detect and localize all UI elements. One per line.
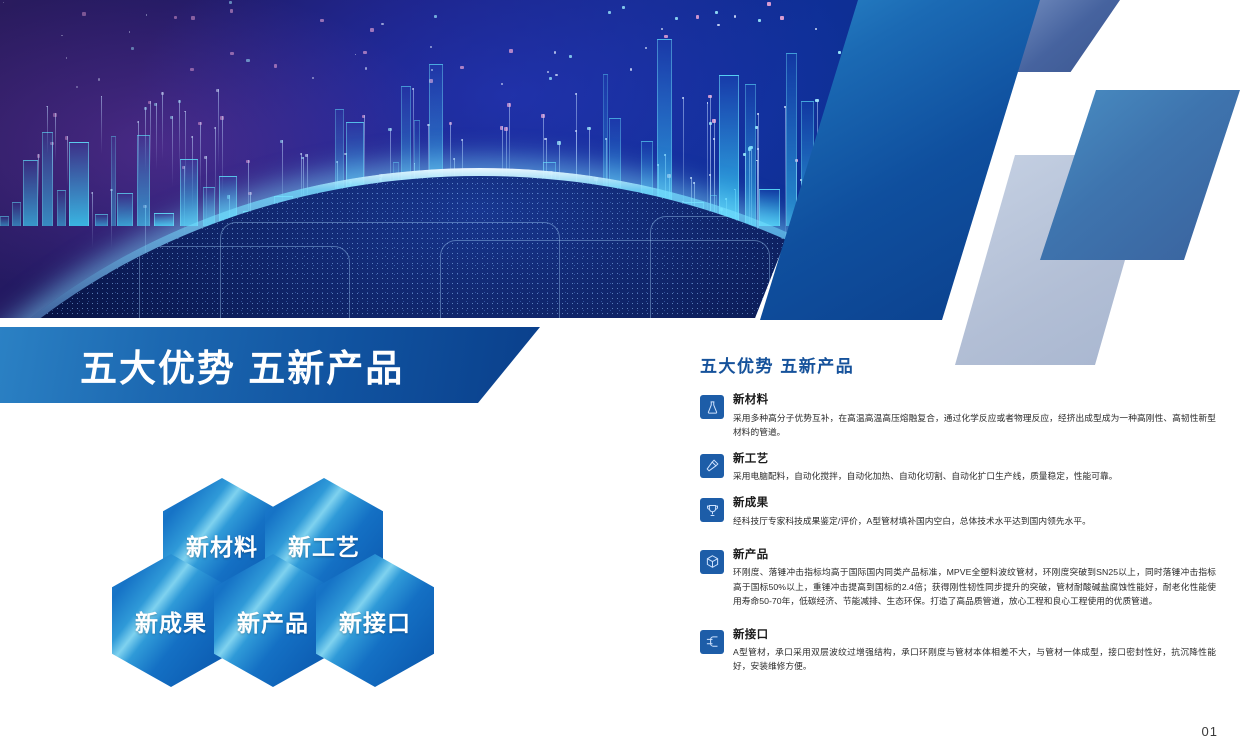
hexagon-label: 新产品 <box>237 604 309 638</box>
feature-heading: 新成果 <box>733 496 1216 512</box>
feature-list-panel: 五大优势 五新产品 新材料 采用多种高分子优势互补，在高温高温高压熔融复合，通过… <box>700 352 1216 686</box>
hexagon-label: 新工艺 <box>288 528 360 562</box>
feature-body: 采用多种高分子优势互补，在高温高温高压熔融复合，通过化学反应或者物理反应，经挤出… <box>733 411 1216 439</box>
section-title: 五大优势 五新产品 <box>700 352 1216 377</box>
feature-body: 经科技厅专家科技成果鉴定/评价，A型管材填补国内空白，总体技术水平达到国内领先水… <box>733 514 1216 528</box>
feature-heading: 新材料 <box>733 393 1216 409</box>
trophy-icon <box>700 498 724 522</box>
feature-body: 环刚度、落锤冲击指标均高于国际国内同类产品标准，MPVE全塑料波纹管材，环刚度突… <box>733 565 1216 607</box>
hexagon-cluster: 新材料 新工艺 新成果 新产品 新接口 <box>105 478 415 688</box>
feature-heading: 新工艺 <box>733 452 1216 468</box>
feature-item-new-achievement: 新成果 经科技厅专家科技成果鉴定/评价，A型管材填补国内空白，总体技术水平达到国… <box>700 496 1216 528</box>
title-banner: 五大优势 五新产品 <box>0 327 540 403</box>
decorative-geometry-group <box>740 0 1240 370</box>
feature-heading: 新接口 <box>733 628 1216 644</box>
parallelogram-mid <box>1040 90 1240 260</box>
hexagon-label: 新接口 <box>339 604 411 638</box>
slide-page: 五大优势 五新产品 新材料 新工艺 新成果 新产品 新接口 五大优势 五新产品 <box>0 0 1240 753</box>
page-number: 01 <box>1202 724 1218 739</box>
feature-heading: 新产品 <box>733 548 1216 564</box>
hexagon-label: 新材料 <box>186 528 258 562</box>
feature-item-new-material: 新材料 采用多种高分子优势互补，在高温高温高压熔融复合，通过化学反应或者物理反应… <box>700 393 1216 439</box>
flask-icon <box>700 395 724 419</box>
feature-body: A型管材，承口采用双层波纹过增强结构，承口环刚度与管材本体相差不大，与管材一体成… <box>733 645 1216 673</box>
feature-item-new-joint: 新接口 A型管材，承口采用双层波纹过增强结构，承口环刚度与管材本体相差不大，与管… <box>700 628 1216 674</box>
hexagon-label: 新成果 <box>135 604 207 638</box>
pipe-joint-icon <box>700 630 724 654</box>
feature-body: 采用电脑配料，自动化搅拌，自动化加热、自动化切割、自动化扩口生产线，质量稳定，性… <box>733 469 1216 483</box>
cube-icon <box>700 550 724 574</box>
page-title: 五大优势 五新产品 <box>80 338 404 392</box>
feature-item-new-process: 新工艺 采用电脑配料，自动化搅拌，自动化加热、自动化切割、自动化扩口生产线，质量… <box>700 452 1216 484</box>
feature-item-new-product: 新产品 环刚度、落锤冲击指标均高于国际国内同类产品标准，MPVE全塑料波纹管材，… <box>700 548 1216 608</box>
hammer-icon <box>700 454 724 478</box>
